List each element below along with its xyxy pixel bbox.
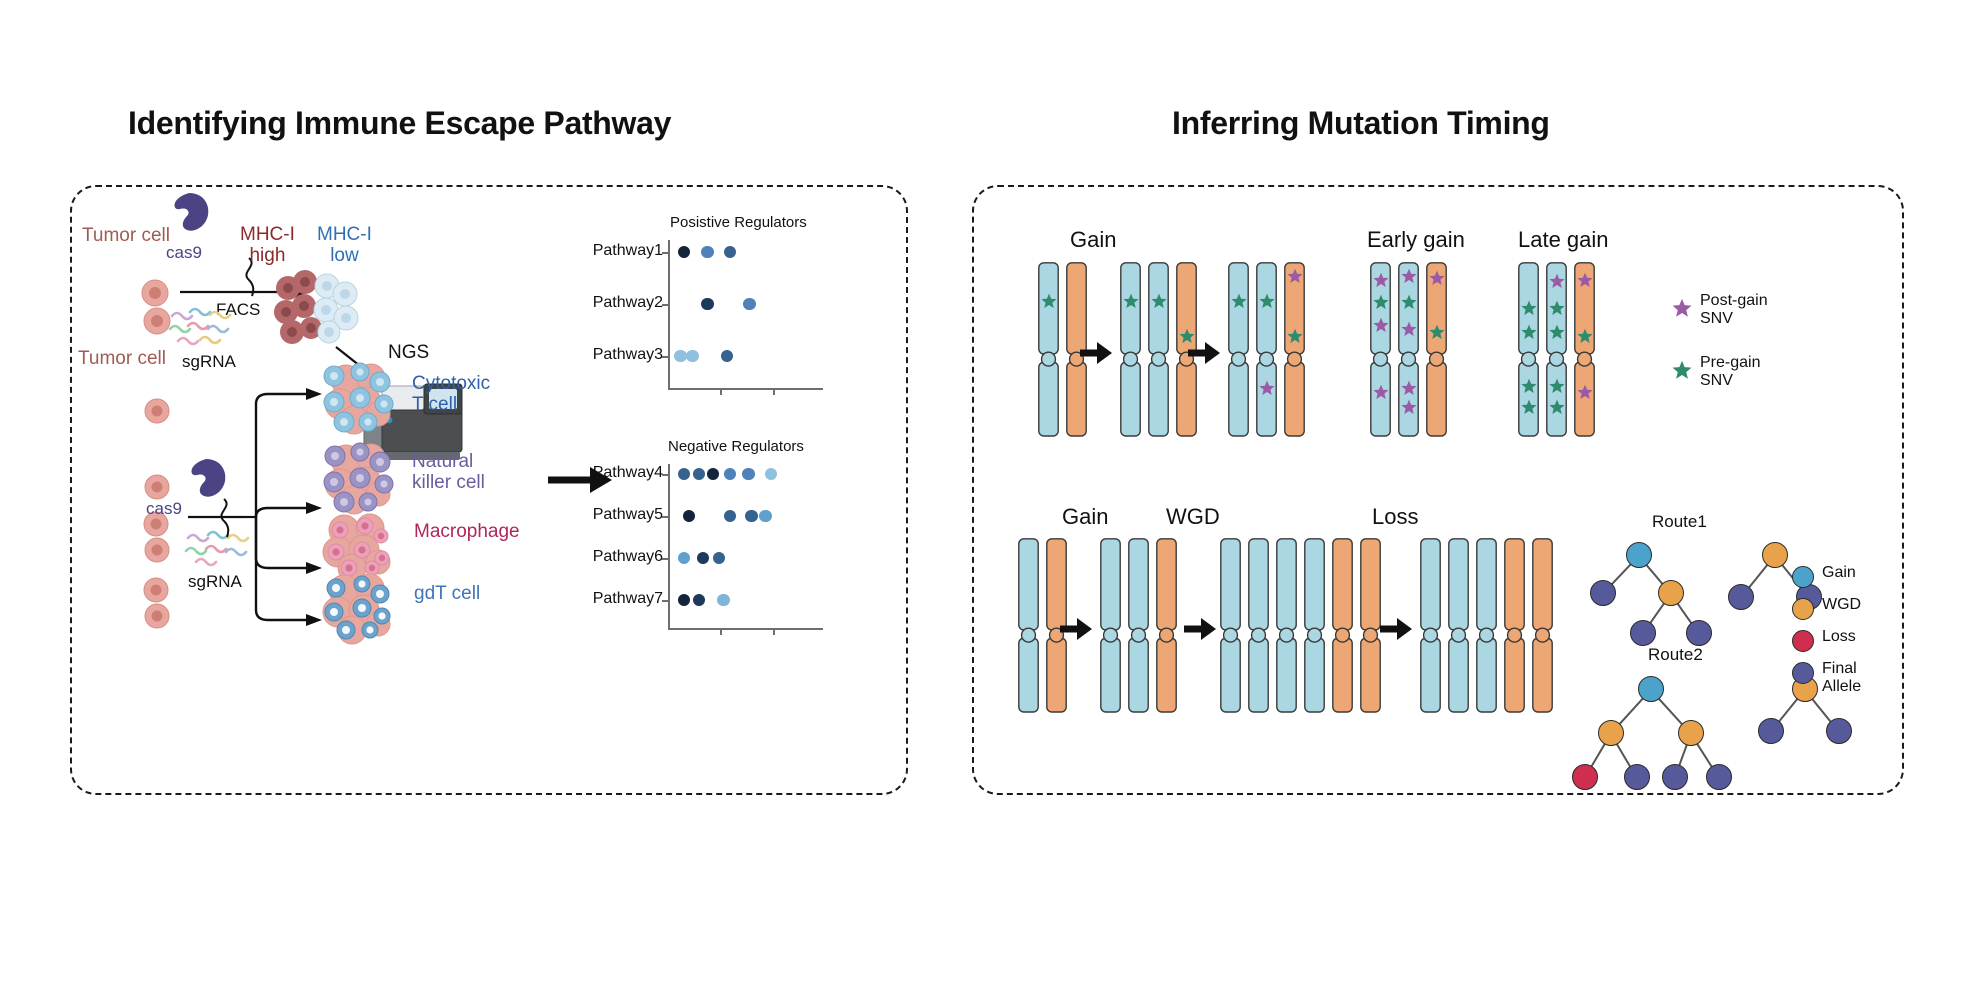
plot-dot — [724, 510, 736, 522]
pre-gain-snv-star-icon — [1259, 293, 1275, 309]
tumor-cell-icon-bottom-2 — [142, 472, 172, 502]
plot-y-tick — [662, 516, 669, 518]
tumor-cell-bottom-label: Tumor cell — [78, 348, 166, 369]
plot-dot — [678, 552, 690, 564]
positive-plot-x-tick — [720, 388, 722, 395]
plot-row-label: Pathway5 — [558, 506, 663, 524]
tree-legend-dot — [1792, 630, 1814, 652]
tree-node-final — [1728, 584, 1754, 610]
wgd-step-2-chromosome — [1156, 538, 1177, 713]
route1-label: Route1 — [1652, 512, 1707, 531]
sgrna-icon-top — [166, 306, 244, 352]
wgd-step-3-chromosome — [1276, 538, 1297, 713]
plot-dot — [678, 246, 690, 258]
gain-step-2-chromosome — [1120, 262, 1141, 437]
route2-label: Route2 — [1648, 645, 1703, 664]
pre-gain-snv-star-icon — [1373, 294, 1389, 310]
tree-node-final — [1758, 718, 1784, 744]
pre-gain-snv-star-icon — [1151, 293, 1167, 309]
post-gain-snv-star-icon — [1401, 268, 1417, 284]
plot-dot — [686, 350, 698, 362]
plot-dot — [701, 246, 713, 258]
tree-node-loss — [1572, 764, 1598, 790]
cas9-bottom-label: cas9 — [146, 499, 182, 518]
pre-gain-snv-star-icon — [1287, 328, 1303, 344]
plot-dot — [693, 468, 705, 480]
post-gain-snv-legend-label: Post-gain SNV — [1700, 292, 1768, 329]
gain-step-3-chromosome — [1256, 262, 1277, 437]
tree-node-final — [1826, 718, 1852, 744]
wgd-step-3-chromosome — [1332, 538, 1353, 713]
mhc-low-label: MHC-I low — [317, 224, 372, 267]
post-gain-snv-star-icon — [1373, 384, 1389, 400]
plot-row-label: Pathway7 — [558, 590, 663, 608]
tumor-cell-icon-bottom-1 — [142, 396, 172, 426]
gdt-cell-icon — [318, 572, 402, 646]
pre-gain-snv-star-icon — [1123, 293, 1139, 309]
pre-gain-snv-star-icon — [1521, 399, 1537, 415]
wgd-step-4-chromosome — [1420, 538, 1441, 713]
loss-label: Loss — [1372, 505, 1418, 530]
plot-y-tick — [662, 474, 669, 476]
negative-regulators-title: Negative Regulators — [668, 438, 804, 455]
late-gain-chromosome — [1518, 262, 1539, 437]
plot-row-label: Pathway2 — [558, 294, 663, 312]
tree-legend-label: Final Allele — [1822, 660, 1861, 697]
transition-arrow-icon — [1184, 616, 1216, 642]
post-gain-snv-star-icon — [1373, 317, 1389, 333]
pre-gain-snv-star-icon — [1549, 300, 1565, 316]
natural-killer-cell-label: Natural killer cell — [412, 451, 485, 494]
positive-regulators-title: Posistive Regulators — [670, 214, 807, 231]
post-gain-snv-star-icon — [1577, 272, 1593, 288]
plot-y-tick — [662, 558, 669, 560]
plot-dot — [678, 594, 690, 606]
post-gain-snv-star-icon — [1577, 384, 1593, 400]
wgd-step-4-chromosome — [1476, 538, 1497, 713]
pre-gain-snv-star-icon — [1521, 324, 1537, 340]
pre-gain-snv-star-icon — [1231, 293, 1247, 309]
macrophage-label: Macrophage — [414, 521, 520, 542]
plot-dot — [745, 510, 757, 522]
plot-dot — [724, 246, 736, 258]
early-gain-chromosome — [1398, 262, 1419, 437]
pre-gain-snv-star-icon — [1041, 293, 1057, 309]
wgd-label: WGD — [1166, 505, 1220, 530]
wgd-step-3-chromosome — [1220, 538, 1241, 713]
positive-plot-x-axis — [668, 388, 823, 390]
mhc-high-label: MHC-I high — [240, 224, 295, 267]
right-panel-title: Inferring Mutation Timing — [1172, 105, 1550, 142]
wgd-step-4-chromosome — [1448, 538, 1469, 713]
wgd-step-1-chromosome — [1018, 538, 1039, 713]
post-gain-snv-star-icon — [1401, 380, 1417, 396]
plot-dot — [693, 594, 705, 606]
plot-dot — [713, 552, 725, 564]
post-gain-snv-star-icon — [1287, 268, 1303, 284]
gain-top-label: Gain — [1070, 228, 1116, 253]
mhc-cell-cluster-icon — [272, 268, 370, 350]
pre-gain-snv-legend-label: Pre-gain SNV — [1700, 354, 1760, 391]
pre-gain-snv-star-icon — [1577, 328, 1593, 344]
pre-gain-snv-legend-star-icon — [1672, 360, 1692, 380]
post-gain-snv-star-icon — [1373, 272, 1389, 288]
plot-row-label: Pathway4 — [558, 464, 663, 482]
plot-row-label: Pathway1 — [558, 242, 663, 260]
post-gain-snv-star-icon — [1259, 380, 1275, 396]
transition-arrow-icon — [1188, 340, 1220, 366]
plot-dot — [683, 510, 695, 522]
wgd-step-2-chromosome — [1128, 538, 1149, 713]
natural-killer-cell-icon — [318, 440, 402, 518]
late-gain-chromosome — [1574, 262, 1595, 437]
tree-node-wgd — [1598, 720, 1624, 746]
pre-gain-snv-star-icon — [1549, 378, 1565, 394]
pre-gain-snv-star-icon — [1401, 294, 1417, 310]
plot-row-label: Pathway3 — [558, 346, 663, 364]
pre-gain-snv-star-icon — [1521, 378, 1537, 394]
tree-node-gain — [1626, 542, 1652, 568]
plot-row-label: Pathway6 — [558, 548, 663, 566]
post-gain-snv-star-icon — [1401, 399, 1417, 415]
post-gain-snv-star-icon — [1549, 273, 1565, 289]
tree-node-wgd — [1678, 720, 1704, 746]
plot-dot — [707, 468, 719, 480]
tree-legend-label: Loss — [1822, 628, 1856, 646]
negative-plot-x-tick — [720, 628, 722, 635]
negative-plot-x-tick — [773, 628, 775, 635]
pre-gain-snv-star-icon — [1521, 300, 1537, 316]
plot-dot — [717, 594, 729, 606]
gain-step-3-chromosome — [1284, 262, 1305, 437]
pre-gain-snv-star-icon — [1549, 399, 1565, 415]
gain-step-2-chromosome — [1148, 262, 1169, 437]
plot-y-tick — [662, 252, 669, 254]
tree-node-wgd — [1762, 542, 1788, 568]
early-gain-chromosome — [1370, 262, 1391, 437]
plot-dot — [697, 552, 709, 564]
positive-plot-y-axis — [668, 240, 670, 390]
plot-y-tick — [662, 600, 669, 602]
late-gain-chromosome — [1546, 262, 1567, 437]
transition-arrow-icon — [1380, 616, 1412, 642]
wgd-step-4-chromosome — [1532, 538, 1553, 713]
plot-dot — [678, 468, 690, 480]
tumor-cell-icon-bottom-4 — [140, 576, 176, 634]
post-gain-snv-star-icon — [1429, 270, 1445, 286]
gain-bottom-label: Gain — [1062, 505, 1108, 530]
transition-arrow-icon — [1060, 616, 1092, 642]
plot-dot — [724, 468, 736, 480]
wgd-step-3-chromosome — [1360, 538, 1381, 713]
plot-dot — [765, 468, 777, 480]
tree-legend-label: Gain — [1822, 564, 1856, 582]
wgd-step-2-chromosome — [1100, 538, 1121, 713]
tree-node-final — [1706, 764, 1732, 790]
post-gain-snv-legend-star-icon — [1672, 298, 1692, 318]
positive-regulators-plot: Posistive Regulators Pathway1Pathway2Pat… — [608, 228, 888, 392]
plot-dot — [743, 298, 755, 310]
plot-dot — [674, 350, 686, 362]
negative-plot-x-axis — [668, 628, 823, 630]
left-panel-title: Identifying Immune Escape Pathway — [128, 105, 671, 142]
cytotoxic-t-cell-label: Cytotoxic T cell — [412, 373, 490, 416]
wgd-step-3-chromosome — [1248, 538, 1269, 713]
tree-node-final — [1662, 764, 1688, 790]
plot-dot — [742, 468, 754, 480]
early-gain-chromosome — [1426, 262, 1447, 437]
tumor-cell-top-label: Tumor cell — [82, 225, 170, 246]
tree-legend-dot — [1792, 662, 1814, 684]
wgd-step-4-chromosome — [1504, 538, 1525, 713]
plot-dot — [721, 350, 733, 362]
tree-node-final — [1624, 764, 1650, 790]
wgd-step-3-chromosome — [1304, 538, 1325, 713]
post-gain-snv-star-icon — [1401, 321, 1417, 337]
late-gain-label: Late gain — [1518, 228, 1609, 253]
positive-plot-x-tick — [773, 388, 775, 395]
tumor-cell-icon-bottom-3 — [140, 510, 176, 568]
cytotoxic-t-cell-icon — [316, 358, 402, 438]
tree-node-wgd — [1658, 580, 1684, 606]
tree-node-final — [1686, 620, 1712, 646]
plot-y-tick — [662, 356, 669, 358]
early-gain-label: Early gain — [1367, 228, 1465, 253]
sgrna-top-label: sgRNA — [182, 352, 236, 371]
cas9-icon-top — [165, 188, 213, 240]
pre-gain-snv-star-icon — [1429, 324, 1445, 340]
plot-dot — [701, 298, 713, 310]
plot-y-tick — [662, 304, 669, 306]
transition-arrow-icon — [1080, 340, 1112, 366]
tree-legend-dot — [1792, 598, 1814, 620]
tree-legend-label: WGD — [1822, 596, 1861, 614]
tree-node-final — [1590, 580, 1616, 606]
negative-regulators-plot: Negative Regulators Pathway4Pathway5Path… — [608, 452, 888, 642]
gain-step-3-chromosome — [1228, 262, 1249, 437]
negative-plot-y-axis — [668, 464, 670, 630]
gain-step-1-chromosome — [1038, 262, 1059, 437]
gdt-cell-label: gdT cell — [414, 583, 480, 604]
tree-node-final — [1630, 620, 1656, 646]
pre-gain-snv-star-icon — [1549, 324, 1565, 340]
tree-node-gain — [1638, 676, 1664, 702]
tree-legend-dot — [1792, 566, 1814, 588]
plot-dot — [759, 510, 771, 522]
